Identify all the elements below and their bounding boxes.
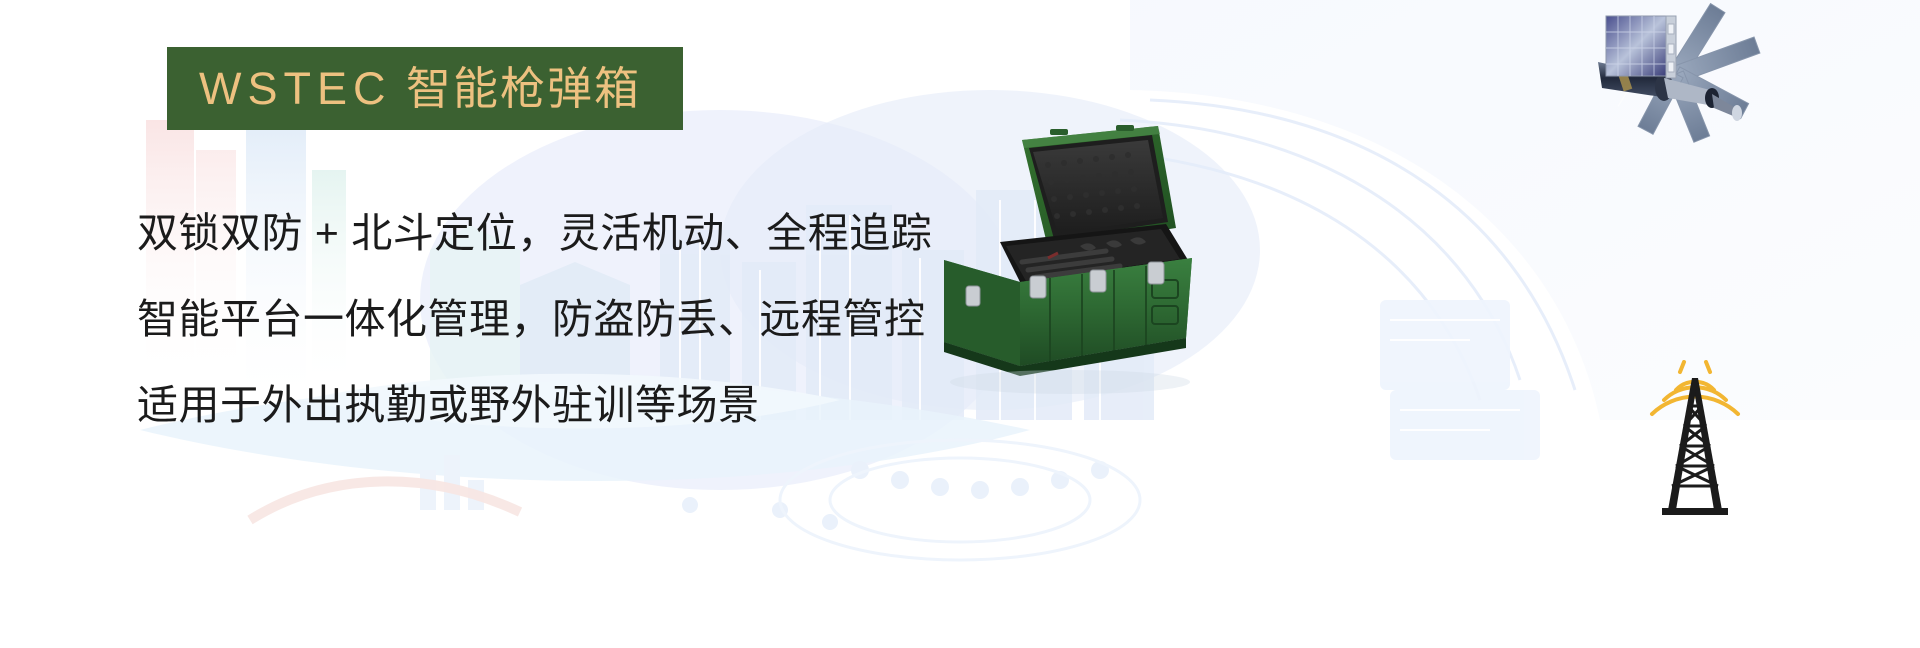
banner-stage: WSTEC 智能枪弹箱 双锁双防 + 北斗定位，灵活机动、全程追踪 智能平台一体…: [0, 0, 1920, 648]
banner-title: WSTEC 智能枪弹箱: [199, 66, 641, 111]
signal-tower-icon: [1610, 360, 1780, 520]
title-banner: WSTEC 智能枪弹箱: [167, 47, 683, 130]
banner-title-latin: WSTEC: [199, 63, 392, 114]
banner-title-cn: 智能枪弹箱: [406, 63, 641, 114]
case-svg: [930, 110, 1260, 400]
feature-line-1: 双锁双防 + 北斗定位，灵活机动、全程追踪: [137, 190, 997, 276]
tower-svg: [1610, 360, 1780, 520]
satellite-svg: [1598, 2, 1798, 152]
satellite-icon: [1598, 2, 1798, 152]
feature-list: 双锁双防 + 北斗定位，灵活机动、全程追踪 智能平台一体化管理，防盗防丢、远程管…: [137, 190, 997, 448]
satellite-solar-panel: [1606, 16, 1676, 78]
feature-line-3: 适用于外出执勤或野外驻训等场景: [137, 362, 997, 448]
feature-line-2: 智能平台一体化管理，防盗防丢、远程管控: [137, 276, 997, 362]
product-image-case: [930, 110, 1260, 400]
case-body: [944, 258, 1192, 376]
